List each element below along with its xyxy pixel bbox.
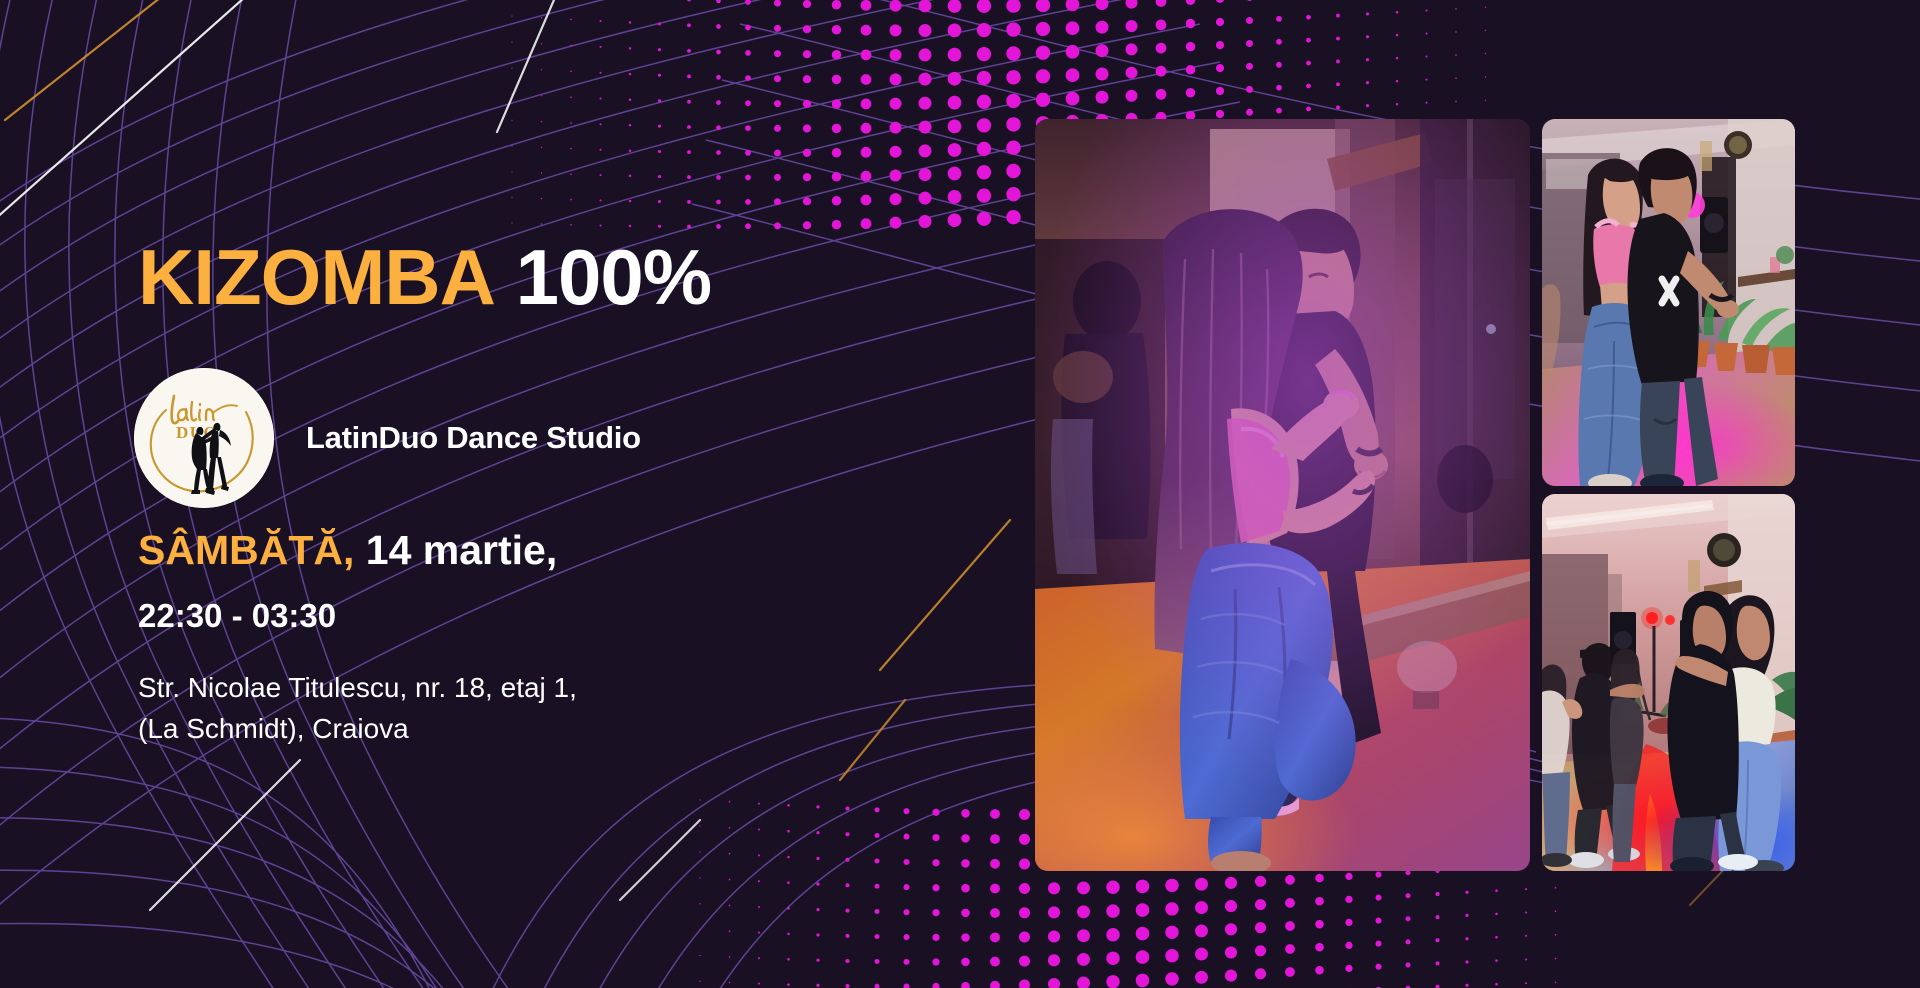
headline-suffix: 100% [516,233,712,321]
brand-name: LatinDuo Dance Studio [306,420,641,456]
photo-top [1542,119,1795,486]
brand-row: DUO [134,368,641,508]
poster-canvas: KIZOMBA 100% [0,0,1920,988]
address-line-1: Str. Nicolae Titulescu, nr. 18, etaj 1, [138,668,577,709]
photo-collage [1035,119,1795,871]
event-day: SÂMBĂTĂ, [138,527,354,573]
photo-main [1035,119,1530,871]
latinduo-logo-icon: DUO [134,368,274,508]
event-date-value: 14 martie, [366,527,557,573]
page-title: KIZOMBA 100% [138,238,711,316]
event-address: Str. Nicolae Titulescu, nr. 18, etaj 1, … [138,668,577,749]
event-time: 22:30 - 03:30 [138,597,336,635]
photo-bottom [1542,494,1795,871]
headline-main: KIZOMBA [138,233,495,321]
address-line-2: (La Schmidt), Craiova [138,709,577,750]
event-date: SÂMBĂTĂ, 14 martie, [138,528,557,573]
poster-content: KIZOMBA 100% [0,0,1040,988]
